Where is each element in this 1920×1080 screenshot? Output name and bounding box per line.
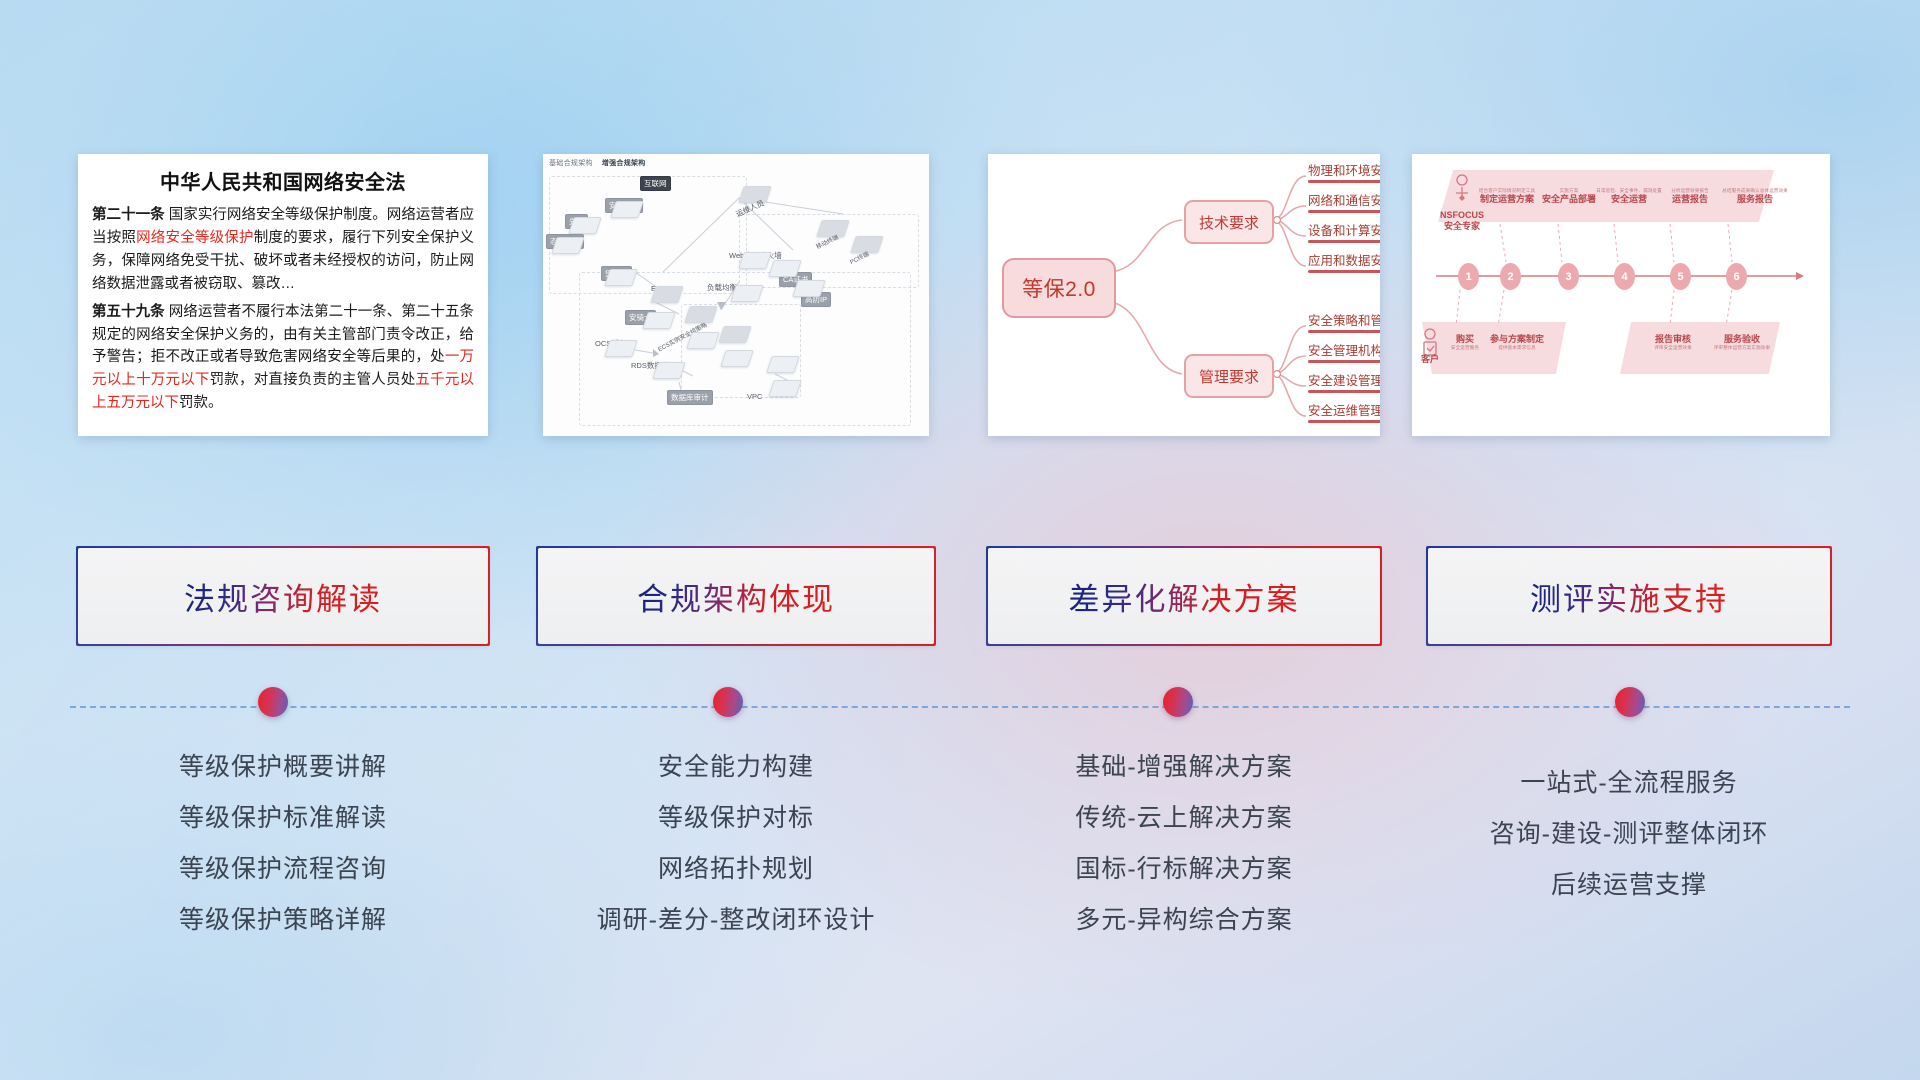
section-items-row: 等级保护概要讲解 等级保护标准解读 等级保护流程咨询 等级保护策略详解 安全能力… xyxy=(0,742,1920,972)
mindmap-root: 等保2.0 xyxy=(1002,258,1116,318)
top-step-1-sub: 结合客户实际情况制定工具 xyxy=(1476,188,1538,194)
bottom-step-2-title: 参与方案制定 xyxy=(1486,334,1548,345)
section-title-solution[interactable]: 差异化解决方案 xyxy=(988,548,1380,644)
bottom-step-4-title: 服务验收 xyxy=(1706,334,1778,345)
item-architecture-2: 等级保护对标 xyxy=(538,793,934,844)
item-assessment-2: 咨询-建设-测评整体闭环 xyxy=(1428,809,1830,860)
timeline-step-6: 6 xyxy=(1726,263,1747,290)
timeline-marker-architecture[interactable] xyxy=(713,687,743,717)
item-solution-3: 国标-行标解决方案 xyxy=(988,844,1380,895)
top-step-3-title: 安全运营 xyxy=(1596,194,1662,205)
section-title-assessment-label: 测评实施支持 xyxy=(1530,574,1728,619)
expert-role-line1: NSFOCUS xyxy=(1432,210,1492,221)
law-card: 中华人民共和国网络安全法 第二十一条 国家实行网络安全等级保护制度。网络运营者应… xyxy=(78,154,488,436)
section-title-architecture-label: 合规架构体现 xyxy=(637,574,835,619)
timeline-marker-assessment[interactable] xyxy=(1615,687,1645,717)
law-article-59: 第五十九条 网络运营者不履行本法第二十一条、第二十五条规定的网络安全保护义务的，… xyxy=(92,301,474,416)
progress-timeline xyxy=(0,700,1920,714)
law-article-21-highlight: 网络安全等级保护 xyxy=(136,230,254,246)
timeline-step-3: 3 xyxy=(1558,263,1579,290)
section-title-architecture[interactable]: 合规架构体现 xyxy=(538,548,934,644)
mindmap-leaf-mgmt-3: 安全建设管理 xyxy=(1308,374,1380,388)
top-step-2-title: 安全产品部署 xyxy=(1538,194,1600,205)
top-step-4-title: 运营报告 xyxy=(1656,194,1724,205)
timeline-step-4: 4 xyxy=(1614,263,1635,290)
mindmap-leaf-tech-3: 设备和计算安全 xyxy=(1308,224,1380,238)
mindmap-leaf-mgmt-2: 安全管理机构和人员 xyxy=(1308,344,1380,358)
mindmap-branch-technical: 技术要求 xyxy=(1184,200,1274,244)
service-timeline-card: NSFOCUS 安全专家 结合客户实际情况制定工具 制定运营方案 实施方案 安全… xyxy=(1412,154,1830,436)
items-regulation: 等级保护概要讲解 等级保护标准解读 等级保护流程咨询 等级保护策略详解 xyxy=(78,742,488,946)
mindmap-leaf-tech-1: 物理和环境安全 xyxy=(1308,164,1380,178)
law-article-21-label: 第二十一条 xyxy=(92,207,165,223)
items-assessment: 一站式-全流程服务 咨询-建设-测评整体闭环 后续运营支撑 xyxy=(1428,758,1830,911)
top-step-3-sub: 日常巡检、安全事件、漏洞处置 xyxy=(1596,188,1662,194)
section-title-solution-label: 差异化解决方案 xyxy=(1069,574,1300,619)
top-step-5-title: 服务报告 xyxy=(1716,194,1794,205)
item-architecture-1: 安全能力构建 xyxy=(538,742,934,793)
section-title-assessment[interactable]: 测评实施支持 xyxy=(1428,548,1830,644)
bottom-step-1-title: 购买 xyxy=(1442,334,1488,345)
mindmap-leaf-tech-4: 应用和数据安全 xyxy=(1308,254,1380,268)
architecture-node-vpc: VPC xyxy=(747,392,762,401)
law-article-59-label: 第五十九条 xyxy=(92,304,165,320)
items-solution: 基础-增强解决方案 传统-云上解决方案 国标-行标解决方案 多元-异构综合方案 xyxy=(988,742,1380,946)
mindmap-card: 等保2.0 技术要求 管理要求 物理和环境安全 网络和通信安全 设备和计算安全 … xyxy=(988,154,1380,436)
item-architecture-4: 调研-差分-整改闭环设计 xyxy=(538,895,934,946)
bottom-step-2-sub: 提供基本需求信息 xyxy=(1486,345,1548,351)
architecture-node-db-audit: 数据库审计 xyxy=(667,390,713,405)
timeline-marker-regulation[interactable] xyxy=(258,687,288,717)
timeline-step-5: 5 xyxy=(1670,263,1691,290)
mindmap-leaf-tech-2: 网络和通信安全 xyxy=(1308,194,1380,208)
item-assessment-3: 后续运营支撑 xyxy=(1428,860,1830,911)
section-title-regulation-label: 法规咨询解读 xyxy=(184,574,382,619)
item-regulation-1: 等级保护概要讲解 xyxy=(78,742,488,793)
expert-role-line2: 安全专家 xyxy=(1432,221,1492,232)
item-architecture-3: 网络拓扑规划 xyxy=(538,844,934,895)
timeline-dashed-line xyxy=(70,706,1850,708)
section-title-row: 法规咨询解读 合规架构体现 差异化解决方案 测评实施支持 xyxy=(0,548,1920,648)
mindmap-leaf-mgmt-4: 安全运维管理 xyxy=(1308,404,1380,418)
architecture-card: 基础合规架构增强合规架构 xyxy=(543,154,929,436)
item-solution-1: 基础-增强解决方案 xyxy=(988,742,1380,793)
bottom-step-3-sub: 评审安全运营效果 xyxy=(1644,345,1702,351)
items-architecture: 安全能力构建 等级保护对标 网络拓扑规划 调研-差分-整改闭环设计 xyxy=(538,742,934,946)
timeline-marker-solution[interactable] xyxy=(1163,687,1193,717)
architecture-node-internet: 互联网 xyxy=(640,176,671,191)
item-regulation-3: 等级保护流程咨询 xyxy=(78,844,488,895)
item-assessment-1: 一站式-全流程服务 xyxy=(1428,758,1830,809)
top-step-1-title: 制定运营方案 xyxy=(1476,194,1538,205)
bottom-step-4-sub: 评审整体运营方案实施效果 xyxy=(1706,345,1778,351)
item-solution-4: 多元-异构综合方案 xyxy=(988,895,1380,946)
illustration-cards: 中华人民共和国网络安全法 第二十一条 国家实行网络安全等级保护制度。网络运营者应… xyxy=(0,150,1920,450)
law-article-59-text-c: 罚款。 xyxy=(179,395,223,411)
mindmap-branch-management: 管理要求 xyxy=(1184,354,1274,398)
item-regulation-4: 等级保护策略详解 xyxy=(78,895,488,946)
law-article-59-text-b: 罚款，对直接负责的主管人员处 xyxy=(210,372,416,388)
timeline-step-2: 2 xyxy=(1500,263,1521,290)
mindmap-leaf-mgmt-1: 安全策略和管理制度 xyxy=(1308,314,1380,328)
bottom-step-1-sub: 安全运营服务 xyxy=(1442,345,1488,351)
law-card-title: 中华人民共和国网络安全法 xyxy=(92,166,474,195)
item-solution-2: 传统-云上解决方案 xyxy=(988,793,1380,844)
top-step-5-sub: 总结服务成果确认总体运营效果 xyxy=(1716,188,1794,194)
law-article-21: 第二十一条 国家实行网络安全等级保护制度。网络运营者应当按照网络安全等级保护制度… xyxy=(92,204,474,296)
customer-role-label: 客户 xyxy=(1416,354,1444,365)
timeline-step-1: 1 xyxy=(1458,263,1479,290)
bottom-step-3-title: 报告审核 xyxy=(1644,334,1702,345)
item-regulation-2: 等级保护标准解读 xyxy=(78,793,488,844)
section-title-regulation[interactable]: 法规咨询解读 xyxy=(78,548,488,644)
